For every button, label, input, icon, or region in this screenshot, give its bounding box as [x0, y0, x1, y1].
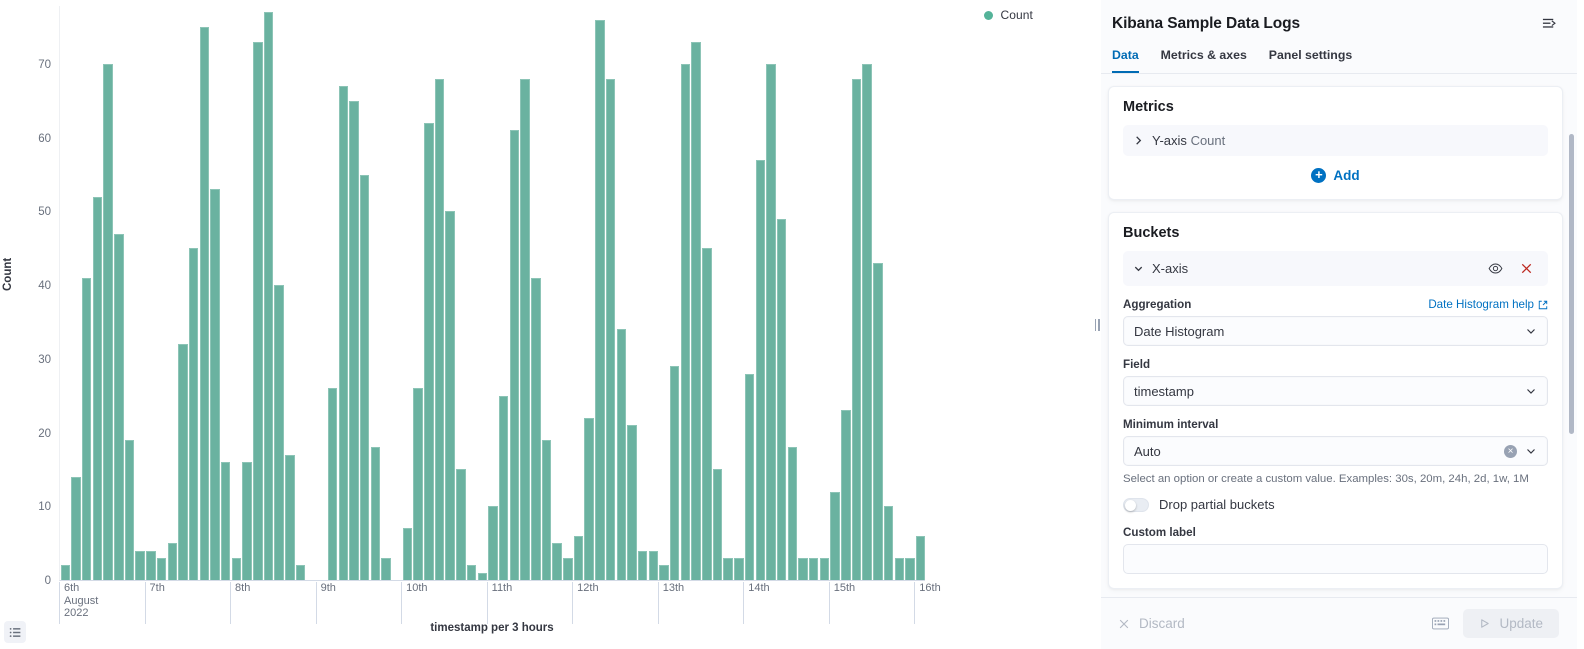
kibana-visualize-editor: Count Count 010203040506070 6th August 2… [0, 0, 1584, 649]
bar[interactable] [445, 211, 454, 580]
bar[interactable] [873, 263, 882, 580]
y-tick-label: 0 [15, 575, 51, 587]
bar[interactable] [809, 558, 818, 580]
remove-bucket-button[interactable] [1515, 259, 1538, 278]
play-icon [1479, 618, 1490, 629]
bar[interactable] [745, 374, 754, 580]
bar-series [60, 5, 926, 580]
chevron-right-icon [1133, 135, 1144, 146]
bar[interactable] [681, 64, 690, 580]
aggregation-select[interactable]: Date Histogram [1123, 316, 1548, 346]
bar[interactable] [178, 344, 187, 580]
metrics-card-title: Metrics [1123, 99, 1548, 115]
min-interval-label: Minimum interval [1123, 418, 1218, 431]
bar[interactable] [478, 573, 487, 580]
bar[interactable] [617, 329, 626, 580]
bar[interactable] [93, 197, 102, 580]
bar[interactable] [563, 558, 572, 580]
update-button[interactable]: Update [1463, 609, 1559, 638]
bar[interactable] [296, 565, 305, 580]
bar[interactable] [895, 558, 904, 580]
bar[interactable] [349, 101, 358, 580]
tab-metrics-axes[interactable]: Metrics & axes [1161, 39, 1247, 73]
bar[interactable] [520, 79, 529, 580]
aggregation-value: Date Histogram [1134, 324, 1525, 339]
discard-label: Discard [1139, 616, 1185, 631]
keyboard-icon [1432, 617, 1449, 630]
bar[interactable] [103, 64, 112, 580]
bar[interactable] [285, 455, 294, 580]
collapse-right-icon [1542, 16, 1557, 31]
bar[interactable] [841, 410, 850, 580]
bar[interactable] [766, 64, 775, 580]
bar[interactable] [691, 42, 700, 580]
x-tick-label: 13th [658, 582, 684, 624]
bar[interactable] [61, 565, 70, 580]
bar[interactable] [82, 278, 91, 580]
drop-partial-buckets-row[interactable]: Drop partial buckets [1123, 497, 1548, 512]
x-tick-label: 7th [145, 582, 165, 624]
bar[interactable] [830, 492, 839, 580]
panel-tabs: DataMetrics & axesPanel settings [1094, 33, 1577, 74]
metric-row-y-axis[interactable]: Y-axis Count [1123, 125, 1548, 156]
x-tick-label: 16th [914, 582, 940, 624]
bar[interactable] [274, 285, 283, 580]
y-tick-label: 40 [15, 280, 51, 292]
plot-wrapper: Count 010203040506070 6th August 20227th… [0, 0, 1000, 649]
bar[interactable] [339, 86, 348, 580]
bar[interactable] [253, 42, 262, 580]
bar[interactable] [788, 447, 797, 580]
bar[interactable] [210, 189, 219, 580]
field-label-row: Field [1123, 358, 1548, 371]
bar[interactable] [488, 506, 497, 580]
bar[interactable] [584, 418, 593, 580]
x-tick-label: 11th [487, 582, 513, 624]
field-select[interactable]: timestamp [1123, 376, 1548, 406]
panel-body: Metrics Y-axis Count + Add Buck [1094, 74, 1577, 597]
bar[interactable] [916, 536, 925, 580]
x-tick-label: 15th [829, 582, 855, 624]
bar[interactable] [232, 558, 241, 580]
bar[interactable] [456, 469, 465, 580]
bar[interactable] [371, 447, 380, 580]
custom-label-input[interactable] [1123, 544, 1548, 574]
bar[interactable] [862, 64, 871, 580]
legend-toggle-button[interactable] [4, 621, 26, 643]
panel-scrollbar[interactable] [1569, 134, 1574, 434]
clear-icon[interactable]: × [1504, 445, 1517, 458]
min-interval-select[interactable]: Auto × [1123, 436, 1548, 466]
x-tick-label: 14th [743, 582, 769, 624]
external-link-icon [1538, 300, 1548, 310]
bar[interactable] [499, 396, 508, 580]
discard-button[interactable]: Discard [1112, 615, 1191, 632]
bar[interactable] [200, 27, 209, 580]
plot-canvas[interactable] [59, 6, 925, 581]
bar[interactable] [734, 558, 743, 580]
bar[interactable] [328, 388, 337, 580]
bar[interactable] [627, 425, 636, 580]
bar[interactable] [756, 160, 765, 580]
bar[interactable] [702, 248, 711, 580]
min-interval-value: Auto [1134, 444, 1504, 459]
min-interval-label-row: Minimum interval [1123, 418, 1548, 431]
bar[interactable] [777, 219, 786, 580]
chevron-down-icon [1525, 385, 1537, 397]
close-icon [1519, 261, 1534, 276]
add-metric-label: Add [1333, 168, 1359, 183]
metric-row-label: Y-axis Count [1152, 133, 1225, 148]
bar[interactable] [189, 248, 198, 580]
page-title: Kibana Sample Data Logs [1112, 15, 1300, 33]
field-value: timestamp [1134, 384, 1525, 399]
panel-resize-handle[interactable] [1093, 0, 1101, 649]
custom-label-label-row: Custom label [1123, 526, 1548, 539]
bar[interactable] [510, 130, 519, 580]
chart-area: Count Count 010203040506070 6th August 2… [0, 0, 1093, 649]
y-tick-label: 60 [15, 133, 51, 145]
bar[interactable] [798, 558, 807, 580]
bar[interactable] [542, 440, 551, 580]
bar[interactable] [670, 366, 679, 580]
bar[interactable] [659, 565, 668, 580]
x-axis-title: timestamp per 3 hours [59, 622, 925, 634]
bar[interactable] [852, 79, 861, 580]
bar[interactable] [413, 388, 422, 580]
keyboard-shortcuts-button[interactable] [1432, 617, 1449, 630]
bar[interactable] [264, 12, 273, 580]
bar[interactable] [649, 551, 658, 580]
buckets-card-title: Buckets [1123, 225, 1548, 241]
bar[interactable] [531, 278, 540, 580]
bar[interactable] [381, 558, 390, 580]
bar[interactable] [905, 558, 914, 580]
legend-label: Count [1000, 8, 1033, 22]
bar[interactable] [552, 543, 561, 580]
panel-footer: Discard [1094, 597, 1577, 649]
custom-label-label: Custom label [1123, 526, 1196, 539]
bar[interactable] [595, 20, 604, 580]
plus-circle-icon: + [1311, 168, 1326, 183]
chevron-down-icon [1525, 325, 1537, 337]
aggregation-label-row: Aggregation Date Histogram help [1123, 298, 1548, 311]
metrics-card: Metrics Y-axis Count + Add [1108, 86, 1563, 200]
panel-header: Kibana Sample Data Logs [1094, 0, 1577, 33]
y-tick-label: 50 [15, 206, 51, 218]
bar[interactable] [638, 551, 647, 580]
update-label: Update [1499, 616, 1543, 631]
bar[interactable] [606, 79, 615, 580]
x-tick-label: 12th [572, 582, 598, 624]
toggle-visibility-button[interactable] [1484, 259, 1507, 278]
min-interval-hint: Select an option or create a custom valu… [1123, 472, 1548, 487]
aggregation-help-text: Date Histogram help [1428, 298, 1534, 311]
add-metric-button[interactable]: + Add [1123, 156, 1548, 185]
bar[interactable] [114, 234, 123, 580]
editor-panel: Kibana Sample Data Logs DataMetrics & ax… [1093, 0, 1577, 649]
x-tick-label: 10th [401, 582, 427, 624]
bar[interactable] [403, 528, 412, 580]
drop-partial-buckets-label: Drop partial buckets [1159, 497, 1275, 512]
bar[interactable] [574, 536, 583, 580]
bar[interactable] [424, 123, 433, 580]
x-tick-label: 8th [230, 582, 250, 624]
bar[interactable] [71, 477, 80, 580]
bucket-title: X-axis [1152, 261, 1476, 276]
bar[interactable] [125, 440, 134, 580]
eye-icon [1488, 261, 1503, 276]
y-tick-label: 20 [15, 428, 51, 440]
tab-panel-settings[interactable]: Panel settings [1269, 39, 1352, 73]
bar[interactable] [168, 543, 177, 580]
y-tick-label: 70 [15, 59, 51, 71]
bar[interactable] [242, 462, 251, 580]
bar[interactable] [157, 558, 166, 580]
bar[interactable] [146, 551, 155, 580]
y-axis-ticks: 010203040506070 [0, 0, 51, 649]
close-icon [1118, 618, 1130, 630]
collapse-panel-button[interactable] [1540, 14, 1559, 33]
bucket-header-x-axis[interactable]: X-axis [1123, 251, 1548, 286]
chevron-down-icon [1525, 445, 1537, 457]
resize-grip-icon [1094, 319, 1101, 331]
x-tick-label: 6th August 2022 [59, 582, 98, 624]
footer-actions: Update [1432, 609, 1559, 638]
tab-data[interactable]: Data [1112, 39, 1139, 73]
x-tick-label: 9th [316, 582, 336, 624]
buckets-card: Buckets X-axis [1108, 212, 1563, 589]
bar[interactable] [723, 558, 732, 580]
bar[interactable] [467, 565, 476, 580]
y-tick-label: 10 [15, 501, 51, 513]
bar[interactable] [435, 79, 444, 580]
field-label: Field [1123, 358, 1150, 371]
drop-partial-buckets-toggle[interactable] [1123, 498, 1149, 512]
bar[interactable] [820, 558, 829, 580]
aggregation-help-link[interactable]: Date Histogram help [1428, 298, 1548, 311]
bar[interactable] [884, 506, 893, 580]
bar[interactable] [360, 175, 369, 580]
y-tick-label: 30 [15, 354, 51, 366]
aggregation-label: Aggregation [1123, 298, 1191, 311]
bar[interactable] [135, 551, 144, 580]
bar[interactable] [221, 462, 230, 580]
chevron-down-icon[interactable] [1133, 263, 1144, 274]
bar[interactable] [713, 469, 722, 580]
list-icon [9, 626, 22, 639]
